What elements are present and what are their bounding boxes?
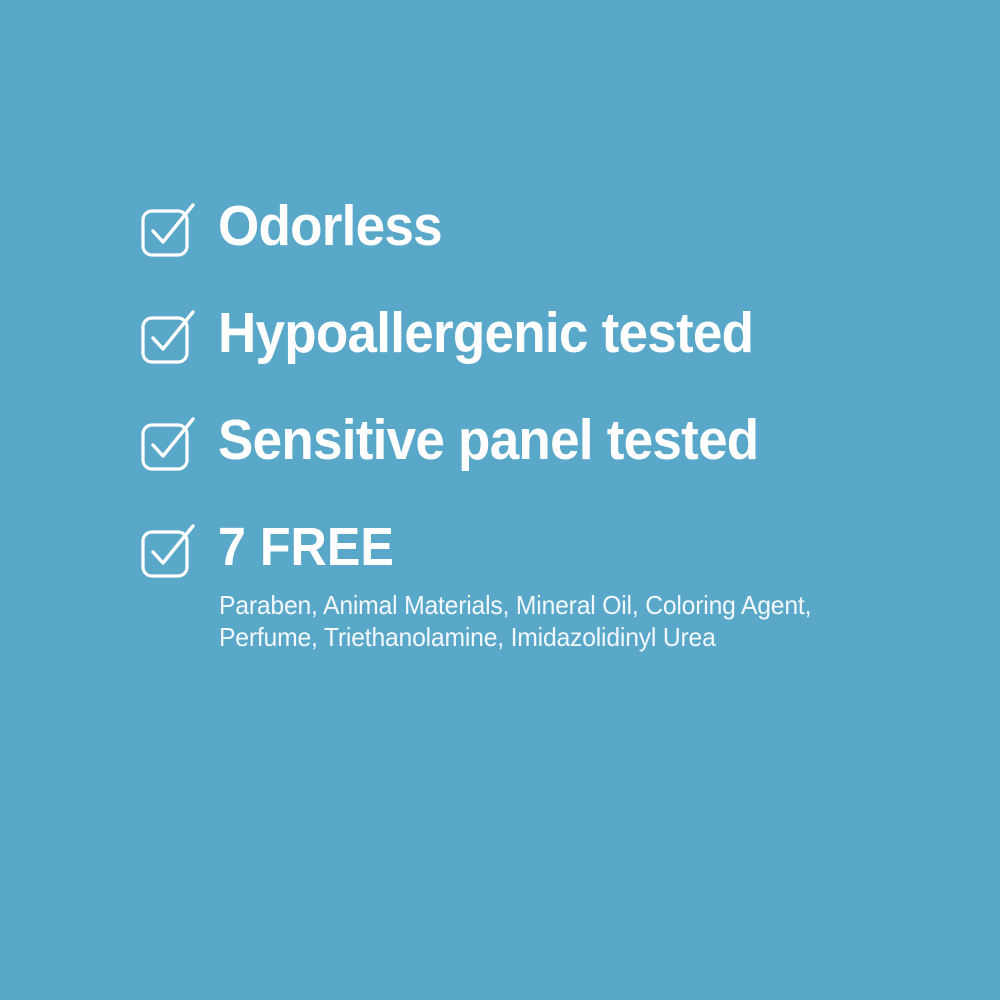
feature-label: Hypoallergenic tested	[218, 303, 889, 363]
excluded-ingredients-line: Perfume, Triethanolamine, Imidazolidinyl…	[219, 621, 904, 653]
feature-row: 7 FREE Paraben, Animal Materials, Minera…	[140, 517, 940, 653]
feature-body: Odorless	[218, 196, 940, 256]
product-feature-poster: Odorless Hypoallergenic tested	[0, 0, 1000, 1000]
checkbox-checked-icon	[140, 202, 196, 258]
feature-row: Odorless	[140, 196, 940, 258]
feature-label: Sensitive panel tested	[218, 410, 889, 470]
excluded-ingredients-line: Paraben, Animal Materials, Mineral Oil, …	[219, 589, 904, 621]
feature-body: Hypoallergenic tested	[218, 303, 940, 363]
feature-row: Sensitive panel tested	[140, 410, 940, 472]
feature-row: Hypoallergenic tested	[140, 303, 940, 365]
feature-body: Sensitive panel tested	[218, 410, 940, 470]
checkbox-checked-icon	[140, 523, 196, 579]
feature-body: 7 FREE Paraben, Animal Materials, Minera…	[218, 517, 940, 653]
checkbox-checked-icon	[140, 309, 196, 365]
feature-label: Odorless	[218, 196, 889, 256]
feature-list: Odorless Hypoallergenic tested	[140, 196, 940, 653]
feature-label: 7 FREE	[218, 517, 889, 577]
excluded-ingredients-list: Paraben, Animal Materials, Mineral Oil, …	[219, 589, 940, 653]
checkbox-checked-icon	[140, 416, 196, 472]
